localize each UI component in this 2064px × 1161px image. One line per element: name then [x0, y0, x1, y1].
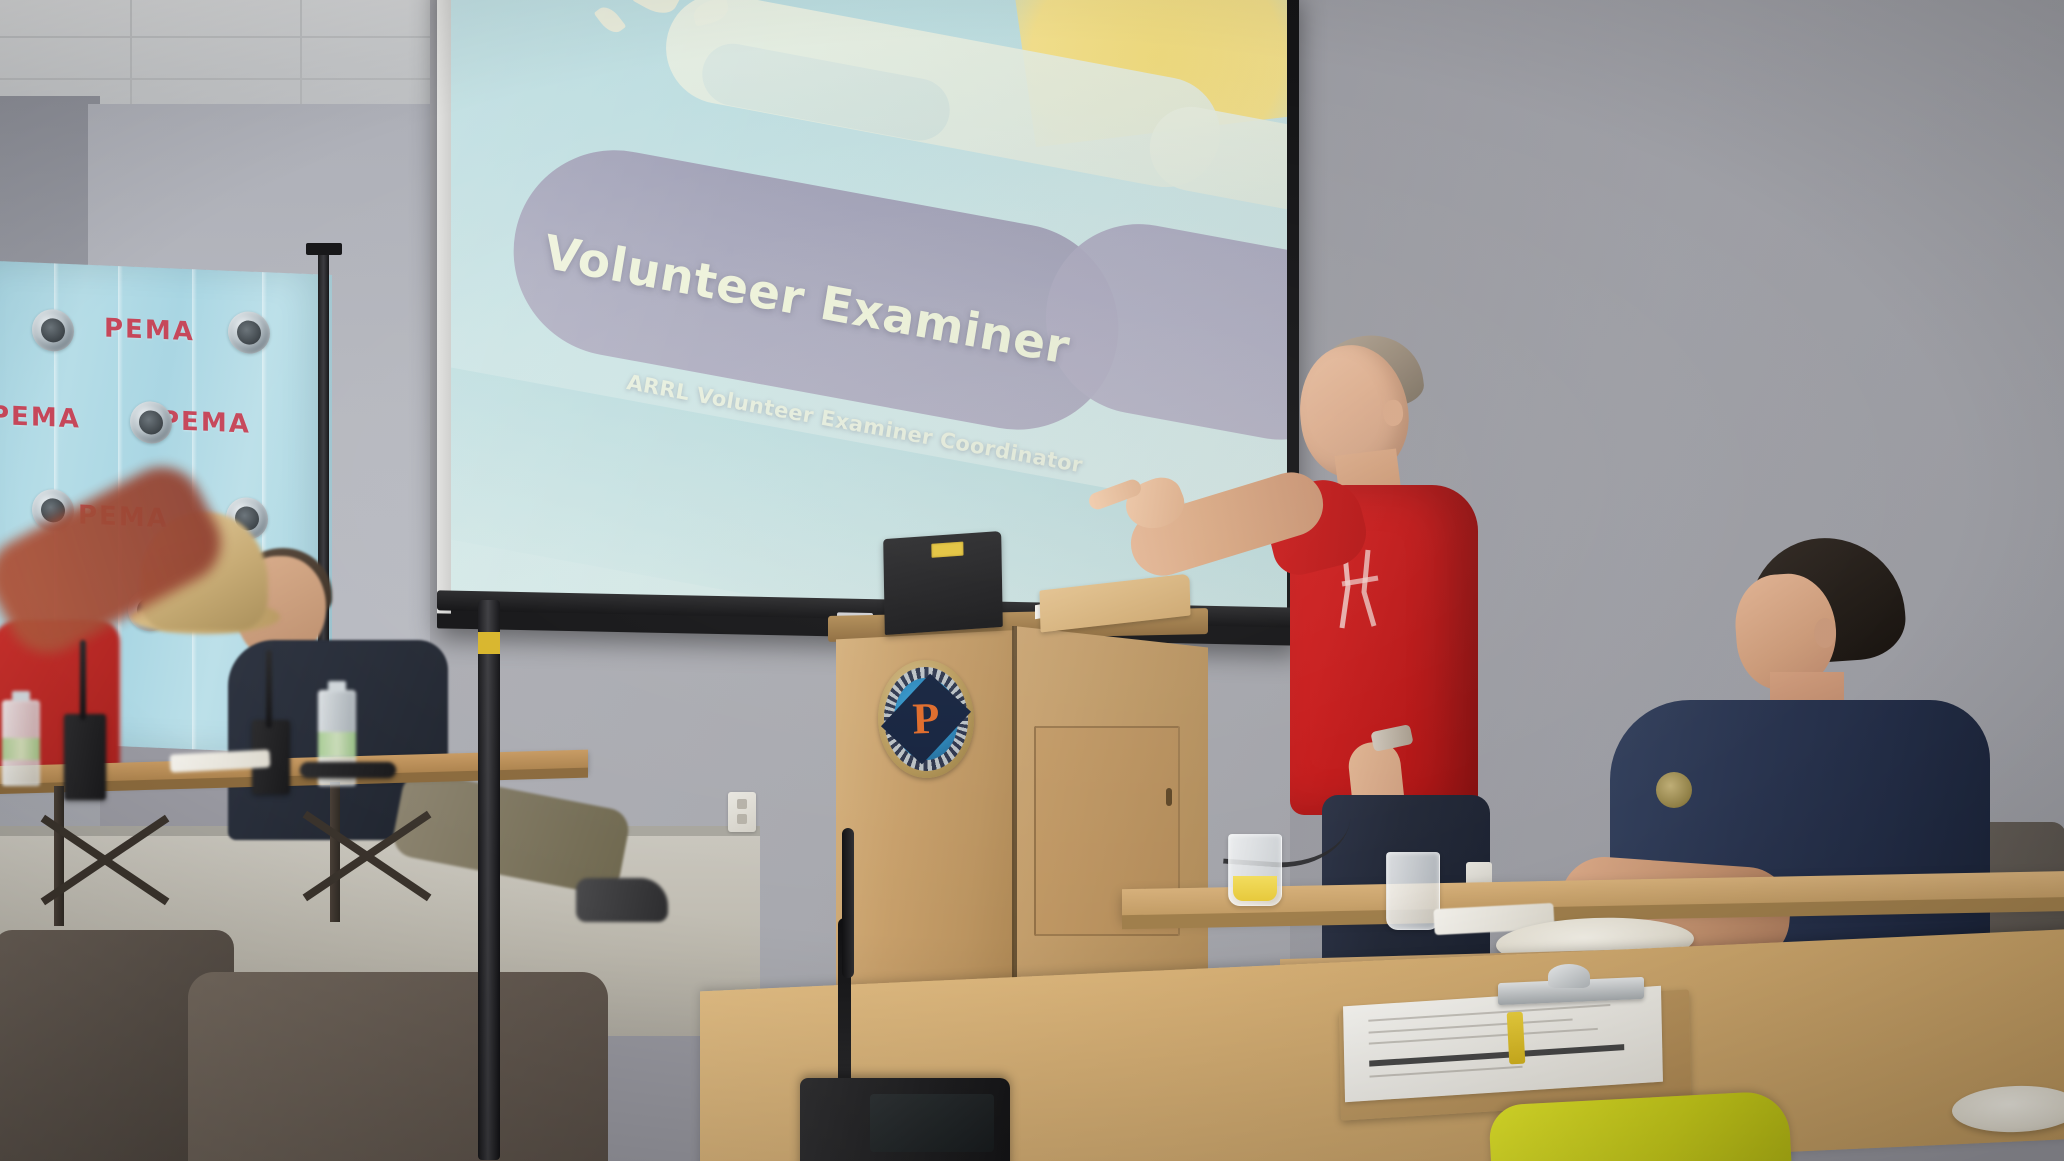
radio-antenna-secondary [842, 828, 854, 978]
radio-display [870, 1094, 994, 1152]
highlighter-marker[interactable] [1507, 1012, 1526, 1065]
pema-label: PEMA [160, 406, 251, 440]
radio-base[interactable] [300, 762, 396, 778]
handheld-radio-foreground[interactable] [800, 1078, 1010, 1161]
laptop-sticker [931, 542, 963, 558]
handheld-radio[interactable] [64, 714, 106, 800]
plastic-cup-with-juice[interactable] [1228, 834, 1282, 906]
stacking-chair[interactable] [188, 972, 608, 1161]
table-leg [54, 786, 64, 926]
pema-label: PEMA [104, 313, 195, 347]
radio-antenna [80, 640, 86, 720]
pema-label: PEMA [0, 401, 81, 435]
pema-seal-icon [130, 401, 172, 445]
banner-stand-crossbar [306, 243, 342, 255]
stand-band [478, 632, 500, 654]
attendee-ear [1814, 618, 1836, 648]
seal-letter: P [877, 695, 974, 742]
table-leg [330, 782, 340, 922]
plastic-cup[interactable] [1386, 852, 1440, 930]
photo-scene: PEMA PEMA PEMA PEMA PEMA Volunteer Exami… [0, 0, 2064, 1161]
water-bottle[interactable] [2, 700, 40, 786]
microphone-stand-pole [478, 600, 500, 1160]
wall-outlet [728, 792, 756, 832]
screen-left-edge [437, 0, 451, 614]
clipboard-clip-knob[interactable] [1548, 964, 1590, 988]
pema-podium-seal-icon: P [876, 658, 976, 779]
attendee-left-shoe [576, 878, 668, 922]
radio-antenna [266, 650, 272, 728]
laptop[interactable] [883, 531, 1003, 635]
pema-seal-icon [32, 308, 74, 352]
shoulder-patch-icon [1656, 772, 1692, 808]
lectern-knob[interactable] [1166, 788, 1172, 806]
pema-seal-icon [228, 311, 270, 355]
